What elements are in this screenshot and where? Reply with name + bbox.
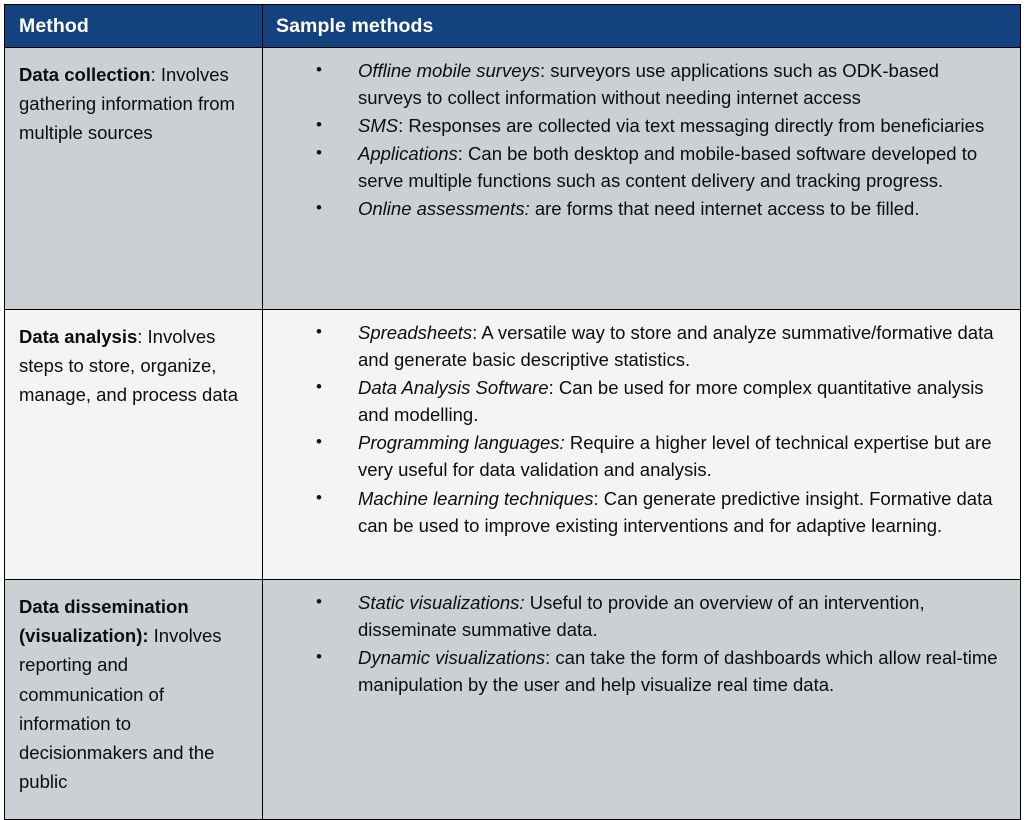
- sample-method-lead: Machine learning techniques: [358, 488, 594, 509]
- column-header-sample-methods: Sample methods: [263, 5, 1021, 48]
- cell-sample-methods: Spreadsheets: A versatile way to store a…: [263, 310, 1021, 580]
- list-item: Applications: Can be both desktop and mo…: [273, 140, 1006, 194]
- table-row: Data dissemination (visualization): Invo…: [5, 580, 1021, 820]
- cell-sample-methods: Offline mobile surveys: surveyors use ap…: [263, 48, 1021, 310]
- table-header: Method Sample methods: [5, 5, 1021, 48]
- sample-method-lead: Programming languages:: [358, 432, 565, 453]
- method-description: Involves reporting and communication of …: [19, 625, 222, 792]
- list-item: Machine learning techniques: Can generat…: [273, 485, 1006, 539]
- sample-method-lead: Offline mobile surveys: [358, 60, 540, 81]
- list-item: Programming languages: Require a higher …: [273, 429, 1006, 483]
- sample-method-lead: Spreadsheets: [358, 322, 472, 343]
- sample-method-rest: : Responses are collected via text messa…: [398, 115, 984, 136]
- sample-methods-list: Offline mobile surveys: surveyors use ap…: [273, 57, 1006, 223]
- table-row: Data analysis: Involves steps to store, …: [5, 310, 1021, 580]
- cell-sample-methods: Static visualizations: Useful to provide…: [263, 580, 1021, 820]
- methods-table: Method Sample methods Data collection: I…: [4, 4, 1021, 820]
- list-item: Static visualizations: Useful to provide…: [273, 589, 1006, 643]
- sample-method-lead: Dynamic visualizations: [358, 647, 545, 668]
- column-header-method: Method: [5, 5, 263, 48]
- cell-method: Data dissemination (visualization): Invo…: [5, 580, 263, 820]
- cell-method: Data analysis: Involves steps to store, …: [5, 310, 263, 580]
- method-term: Data analysis: [19, 326, 137, 347]
- table-body: Data collection: Involves gathering info…: [5, 48, 1021, 820]
- list-item: Online assessments: are forms that need …: [273, 195, 1006, 222]
- sample-methods-list: Spreadsheets: A versatile way to store a…: [273, 319, 1006, 539]
- list-item: Data Analysis Software: Can be used for …: [273, 374, 1006, 428]
- sample-method-rest: are forms that need internet access to b…: [530, 198, 920, 219]
- method-term: Data collection: [19, 64, 151, 85]
- sample-method-lead: Online assessments:: [358, 198, 530, 219]
- list-item: Spreadsheets: A versatile way to store a…: [273, 319, 1006, 373]
- list-item: Dynamic visualizations: can take the for…: [273, 644, 1006, 698]
- table-row: Data collection: Involves gathering info…: [5, 48, 1021, 310]
- sample-method-lead: Applications: [358, 143, 458, 164]
- header-row: Method Sample methods: [5, 5, 1021, 48]
- list-item: SMS: Responses are collected via text me…: [273, 112, 1006, 139]
- methods-table-container: Method Sample methods Data collection: I…: [0, 0, 1026, 819]
- sample-method-lead: Static visualizations:: [358, 592, 525, 613]
- sample-methods-list: Static visualizations: Useful to provide…: [273, 589, 1006, 698]
- cell-method: Data collection: Involves gathering info…: [5, 48, 263, 310]
- sample-method-lead: Data Analysis Software: [358, 377, 549, 398]
- list-item: Offline mobile surveys: surveyors use ap…: [273, 57, 1006, 111]
- sample-method-lead: SMS: [358, 115, 398, 136]
